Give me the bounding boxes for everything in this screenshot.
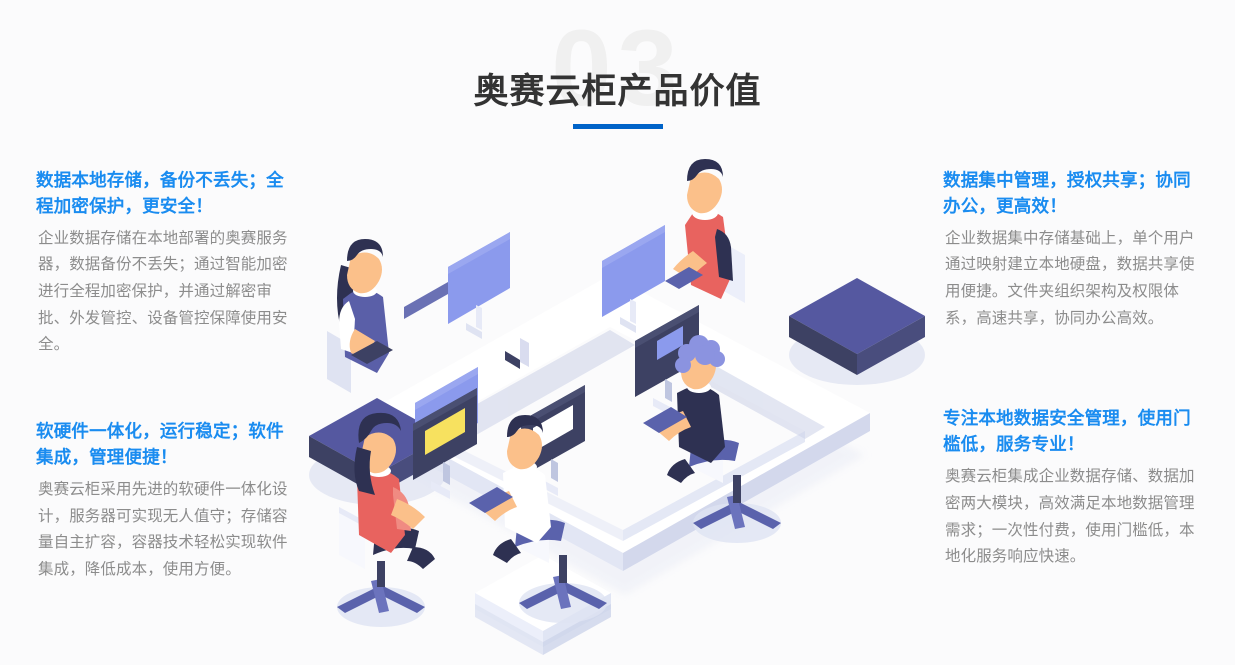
page-header: 03 奥赛云柜产品价值 xyxy=(0,0,1235,150)
feature-card-hardware-software-integration: 软硬件一体化，运行稳定；软件集成，管理便捷！ 奥赛云柜采用先进的软硬件一体化设计… xyxy=(32,419,300,583)
feature-body: 奥赛云柜集成企业数据存储、数据加密两大模块，高效满足本地数据管理需求；一次性付费… xyxy=(945,464,1207,571)
person-top-right-standing xyxy=(665,159,745,303)
page-title: 奥赛云柜产品价值 xyxy=(0,71,1235,112)
feature-title: 专注本地数据安全管理，使用门槛低，服务专业！ xyxy=(943,406,1207,458)
feature-body: 企业数据存储在本地部署的奥赛服务器，数据备份不丢失；通过智能加密进行全程加密保护… xyxy=(38,226,300,359)
feature-card-data-local-storage: 数据本地存储，备份不丢失；全程加密保护，更安全！ 企业数据存储在本地部署的奥赛服… xyxy=(32,168,300,359)
feature-card-centralized-management: 数据集中管理，授权共享；协同办公，更高效！ 企业数据集中存储基础上，单个用户通过… xyxy=(939,168,1207,332)
feature-title: 数据本地存储，备份不丢失；全程加密保护，更安全！ xyxy=(36,168,300,220)
feature-card-local-data-security: 专注本地数据安全管理，使用门槛低，服务专业！ 奥赛云柜集成企业数据存储、数据加密… xyxy=(939,406,1207,570)
feature-body: 企业数据集中存储基础上，单个用户通过映射建立本地硬盘，数据共享使用便捷。文件夹组… xyxy=(945,226,1207,333)
feature-title: 软硬件一体化，运行稳定；软件集成，管理便捷！ xyxy=(36,419,300,471)
chair-star-base xyxy=(337,561,425,613)
feature-column-right: 数据集中管理，授权共享；协同办公，更高效！ 企业数据集中存储基础上，单个用户通过… xyxy=(939,168,1207,571)
feature-body: 奥赛云柜采用先进的软硬件一体化设计，服务器可实现无人值守；存储容量自主扩容，容器… xyxy=(38,477,300,584)
isometric-office-illustration xyxy=(305,155,930,655)
person-left-standing-woman xyxy=(327,239,393,393)
feature-title: 数据集中管理，授权共享；协同办公，更高效！ xyxy=(943,168,1207,220)
title-underline-rule xyxy=(573,124,663,129)
storage-box-purple-right xyxy=(789,278,925,385)
feature-column-left: 数据本地存储，备份不丢失；全程加密保护，更安全！ 企业数据存储在本地部署的奥赛服… xyxy=(32,168,300,583)
isometric-office-svg xyxy=(305,155,930,655)
